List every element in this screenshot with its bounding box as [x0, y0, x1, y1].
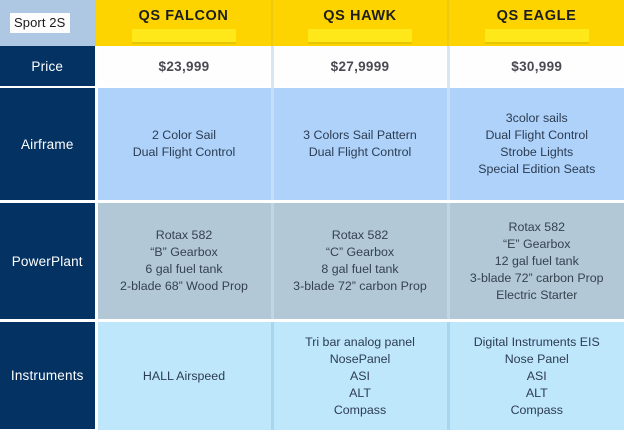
table-row-price: Price $23,999 $27,9999 $30,999: [0, 46, 624, 87]
cell-line: $23,999: [103, 58, 266, 75]
cell-line: “C” Gearbox: [279, 244, 442, 261]
cell-line: $27,9999: [279, 58, 442, 75]
cell-line: $30,999: [455, 58, 620, 75]
column-header-hawk-blank-field[interactable]: [308, 29, 412, 44]
corner-cell-sport-2s: Sport 2S: [0, 0, 96, 46]
cell-line: “E” Gearbox: [455, 236, 620, 253]
sport-2s-label: Sport 2S: [10, 13, 70, 33]
cell-line: 2 Color Sail: [103, 127, 266, 144]
cell-line: Rotax 582: [455, 219, 620, 236]
cell-line: Strobe Lights: [455, 144, 620, 161]
cell-line: 3 Colors Sail Pattern: [279, 127, 442, 144]
cell-line: ALT: [455, 385, 620, 402]
cell-price-hawk: $27,9999: [272, 46, 448, 87]
cell-line: 12 gal fuel tank: [455, 253, 620, 270]
cell-line: Tri bar analog panel: [279, 334, 442, 351]
cell-line: ALT: [279, 385, 442, 402]
cell-line: 6 gal fuel tank: [103, 261, 266, 278]
cell-line: Compass: [279, 402, 442, 419]
cell-line: “B” Gearbox: [103, 244, 266, 261]
cell-line: 3-blade 72” carbon Prop: [279, 278, 442, 295]
cell-line: 3color sails: [455, 110, 620, 127]
column-header-falcon-blank-field[interactable]: [132, 29, 236, 44]
column-header-eagle[interactable]: QS EAGLE: [448, 0, 624, 46]
cell-line: 2-blade 68” Wood Prop: [103, 278, 266, 295]
cell-line: HALL Airspeed: [103, 368, 266, 385]
table-header-row: Sport 2S QS FALCON QS HAWK QS EAGLE: [0, 0, 624, 46]
row-label-airframe: Airframe: [0, 87, 96, 202]
cell-line: Electric Starter: [455, 287, 620, 304]
cell-line: ASI: [455, 368, 620, 385]
cell-instruments-hawk: Tri bar analog panel NosePanel ASI ALT C…: [272, 321, 448, 431]
cell-line: Rotax 582: [279, 227, 442, 244]
column-header-eagle-blank-field[interactable]: [485, 29, 589, 44]
cell-price-falcon: $23,999: [96, 46, 272, 87]
cell-instruments-eagle: Digital Instruments EIS Nose Panel ASI A…: [448, 321, 624, 431]
row-label-instruments: Instruments: [0, 321, 96, 431]
cell-powerplant-eagle: Rotax 582 “E” Gearbox 12 gal fuel tank 3…: [448, 202, 624, 321]
cell-airframe-falcon: 2 Color Sail Dual Flight Control: [96, 87, 272, 202]
column-header-falcon-label: QS FALCON: [96, 2, 271, 24]
cell-line: 3-blade 72” carbon Prop: [455, 270, 620, 287]
column-header-eagle-label: QS EAGLE: [449, 2, 624, 24]
row-label-powerplant: PowerPlant: [0, 202, 96, 321]
cell-powerplant-hawk: Rotax 582 “C” Gearbox 8 gal fuel tank 3-…: [272, 202, 448, 321]
cell-instruments-falcon: HALL Airspeed: [96, 321, 272, 431]
cell-powerplant-falcon: Rotax 582 “B” Gearbox 6 gal fuel tank 2-…: [96, 202, 272, 321]
column-header-hawk-label: QS HAWK: [273, 2, 447, 24]
cell-line: Digital Instruments EIS: [455, 334, 620, 351]
cell-price-eagle: $30,999: [448, 46, 624, 87]
table-row-powerplant: PowerPlant Rotax 582 “B” Gearbox 6 gal f…: [0, 202, 624, 321]
row-label-price: Price: [0, 46, 96, 87]
cell-line: Dual Flight Control: [455, 127, 620, 144]
column-header-falcon[interactable]: QS FALCON: [96, 0, 272, 46]
table-row-instruments: Instruments HALL Airspeed Tri bar analog…: [0, 321, 624, 431]
cell-line: Compass: [455, 402, 620, 419]
cell-line: ASI: [279, 368, 442, 385]
cell-line: Dual Flight Control: [279, 144, 442, 161]
cell-line: NosePanel: [279, 351, 442, 368]
cell-airframe-hawk: 3 Colors Sail Pattern Dual Flight Contro…: [272, 87, 448, 202]
cell-line: 8 gal fuel tank: [279, 261, 442, 278]
cell-airframe-eagle: 3color sails Dual Flight Control Strobe …: [448, 87, 624, 202]
table-row-airframe: Airframe 2 Color Sail Dual Flight Contro…: [0, 87, 624, 202]
cell-line: Rotax 582: [103, 227, 266, 244]
aircraft-comparison-table: Sport 2S QS FALCON QS HAWK QS EAGLE Pric…: [0, 0, 624, 432]
cell-line: Special Edition Seats: [455, 161, 620, 178]
column-header-hawk[interactable]: QS HAWK: [272, 0, 448, 46]
cell-line: Dual Flight Control: [103, 144, 266, 161]
cell-line: Nose Panel: [455, 351, 620, 368]
